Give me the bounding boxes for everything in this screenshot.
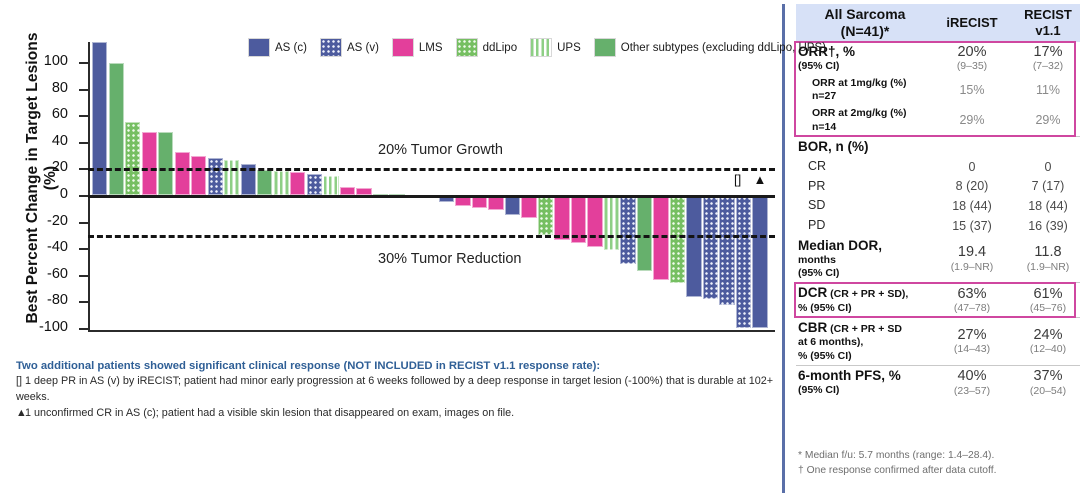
cell-irecist: 40%(23–57) — [934, 365, 1010, 399]
row-label: Median DOR, — [798, 238, 932, 254]
cell-value: 24% — [1012, 327, 1080, 344]
legend-label: UPS — [557, 42, 581, 54]
row-label-qualifier: (CR + PR + SD), — [827, 288, 908, 300]
row-label-cell: SD — [796, 196, 934, 216]
bar — [125, 122, 140, 195]
cell-irecist — [934, 136, 1010, 157]
cell-value: 29% — [936, 113, 1008, 127]
y-tick-label: 80 — [20, 80, 68, 96]
bar — [92, 42, 107, 195]
legend-swatch — [392, 38, 414, 57]
bar — [736, 195, 751, 328]
row-label-cell: Median DOR,months(95% CI) — [796, 236, 934, 283]
cell-value: 20% — [936, 44, 1008, 61]
bar — [274, 171, 289, 195]
zero-baseline — [88, 195, 775, 198]
summary-table-wrap: All Sarcoma (N=41)* iRECIST RECIST v1.1 … — [796, 4, 1074, 399]
bar — [290, 172, 305, 195]
cell-recist: 16 (39) — [1010, 216, 1080, 236]
table-footnotes: * Median f/u: 5.7 months (range: 1.4–28.… — [798, 449, 1068, 479]
bar — [538, 195, 553, 235]
row-sublabel: months — [798, 254, 932, 267]
cell-value: 11% — [1012, 83, 1080, 97]
table-row: PR8 (20)7 (17) — [796, 177, 1080, 197]
y-tick-label: 0 — [20, 186, 68, 202]
cell-confidence-interval: (1.9–NR) — [1012, 261, 1080, 274]
cell-recist: 18 (44) — [1010, 196, 1080, 216]
cell-irecist: 15% — [934, 75, 1010, 105]
y-axis-labels: 100806040200-20-40-60-80-100 — [20, 42, 68, 332]
row-label-cell: ORR at 1mg/kg (%)n=27 — [796, 75, 934, 105]
row-label-qualifier: (CR + PR + SD — [827, 323, 902, 335]
cell-confidence-interval: (12–40) — [1012, 343, 1080, 356]
bar — [191, 156, 206, 195]
cell-recist: 17%(7–32) — [1010, 42, 1080, 76]
y-tick-label: 20 — [20, 159, 68, 175]
cell-confidence-interval: (23–57) — [936, 385, 1008, 398]
row-label: BOR, n (%) — [798, 139, 932, 155]
y-tick — [79, 328, 88, 330]
bar — [142, 132, 157, 195]
legend-item: UPS — [530, 38, 581, 57]
footnote-line-2: ▲1 unconfirmed CR in AS (c); patient had… — [16, 406, 776, 422]
table-row: CBR (CR + PR + SDat 6 months),% (95% CI)… — [796, 317, 1080, 365]
legend-item: AS (v) — [320, 38, 379, 57]
cell-value: 19.4 — [936, 244, 1008, 261]
y-tick — [79, 195, 88, 197]
legend-item: LMS — [392, 38, 443, 57]
legend-swatch — [320, 38, 342, 57]
row-sublabel: % (95% CI) — [798, 350, 932, 363]
bar — [686, 195, 701, 297]
chart-legend: AS (c)AS (v)LMSddLipoUPSOther subtypes (… — [248, 38, 832, 57]
row-label-cell: BOR, n (%) — [796, 136, 934, 157]
cell-irecist: 8 (20) — [934, 177, 1010, 197]
y-tick — [79, 89, 88, 91]
summary-table-panel: All Sarcoma (N=41)* iRECIST RECIST v1.1 … — [780, 0, 1080, 497]
y-tick-label: -80 — [20, 292, 68, 308]
bar — [109, 63, 124, 195]
cell-confidence-interval: (9–35) — [936, 60, 1008, 73]
row-sublabel: (95% CI) — [798, 60, 932, 73]
row-label-cell: ORR at 2mg/kg (%)n=14 — [796, 105, 934, 136]
footnote-line-2-text: 1 unconfirmed CR in AS (c); patient had … — [25, 407, 514, 419]
y-tick — [79, 301, 88, 303]
bar — [208, 158, 223, 195]
header-irecist: iRECIST — [936, 15, 1008, 31]
row-sublabel: (95% CI) — [798, 267, 932, 280]
bar — [604, 195, 619, 250]
cell-irecist: 29% — [934, 105, 1010, 136]
bar — [323, 176, 338, 195]
footnote-heading: Two additional patients showed significa… — [16, 358, 776, 374]
cell-irecist: 15 (37) — [934, 216, 1010, 236]
header-recist-line1: RECIST — [1012, 7, 1080, 23]
legend-item: Other subtypes (excluding ddLipo, UPS) — [594, 38, 826, 57]
cell-recist: 0 — [1010, 157, 1080, 177]
row-label-cell: PR — [796, 177, 934, 197]
table-row: DCR (CR + PR + SD),% (95% CI)63%(47–78)6… — [796, 283, 1080, 318]
cell-value: 18 (44) — [1012, 199, 1080, 213]
cell-value: 37% — [1012, 368, 1080, 385]
legend-swatch — [594, 38, 616, 57]
header-cell-population: All Sarcoma (N=41)* — [796, 4, 934, 42]
marker-triangle-icon: ▲ — [753, 173, 766, 186]
header-cell-irecist: iRECIST — [934, 4, 1010, 42]
row-label-cell: DCR (CR + PR + SD),% (95% CI) — [796, 283, 934, 318]
y-tick-label: -100 — [20, 319, 68, 335]
cell-irecist: 20%(9–35) — [934, 42, 1010, 76]
table-row: 6-month PFS, %(95% CI)40%(23–57)37%(20–5… — [796, 365, 1080, 399]
bar — [554, 195, 569, 240]
cell-value: 63% — [936, 286, 1008, 303]
legend-item: AS (c) — [248, 38, 307, 57]
cell-recist: 29% — [1010, 105, 1080, 136]
cell-value: 27% — [936, 327, 1008, 344]
cell-recist: 61%(45–76) — [1010, 283, 1080, 318]
y-tick-label: -60 — [20, 266, 68, 282]
cell-irecist: 63%(47–78) — [934, 283, 1010, 318]
chart-area: Best Percent Change in Target Lesions (%… — [0, 0, 780, 352]
legend-swatch — [530, 38, 552, 57]
legend-label: AS (c) — [275, 42, 307, 54]
cell-value: 0 — [1012, 160, 1080, 174]
bar — [637, 195, 652, 271]
row-sublabel: (95% CI) — [798, 384, 932, 397]
table-header-row: All Sarcoma (N=41)* iRECIST RECIST v1.1 — [796, 4, 1080, 42]
row-sublabel: n=14 — [812, 121, 932, 134]
cell-value: 0 — [936, 160, 1008, 174]
header-cell-recist: RECIST v1.1 — [1010, 4, 1080, 42]
plot-region: 20% Tumor Growth30% Tumor Reduction []▲ — [88, 42, 775, 332]
bar — [620, 195, 635, 264]
y-tick — [79, 222, 88, 224]
cell-confidence-interval: (1.9–NR) — [936, 261, 1008, 274]
footnote-triangle-symbol: ▲ — [16, 406, 25, 422]
cell-value: 8 (20) — [936, 179, 1008, 193]
table-head: All Sarcoma (N=41)* iRECIST RECIST v1.1 — [796, 4, 1080, 42]
bar — [521, 195, 536, 218]
footnote-bracket-symbol: [] — [16, 374, 25, 390]
row-label: SD — [808, 198, 932, 214]
row-label-cell: CBR (CR + PR + SDat 6 months),% (95% CI) — [796, 317, 934, 365]
row-label-cell: CR — [796, 157, 934, 177]
cell-confidence-interval: (47–78) — [936, 302, 1008, 315]
x-axis-line — [88, 330, 775, 332]
cell-value: 18 (44) — [936, 199, 1008, 213]
y-tick — [79, 62, 88, 64]
row-label: 6-month PFS, % — [798, 368, 932, 384]
cell-confidence-interval: (14–43) — [936, 343, 1008, 356]
reference-line-label: 20% Tumor Growth — [378, 142, 503, 158]
table-row: ORR at 2mg/kg (%)n=1429%29% — [796, 105, 1080, 136]
table-row: ORR†, %(95% CI)20%(9–35)17%(7–32) — [796, 42, 1080, 76]
reference-line — [88, 235, 775, 238]
efficacy-summary-table: All Sarcoma (N=41)* iRECIST RECIST v1.1 … — [796, 4, 1080, 399]
table-row: Median DOR,months(95% CI)19.4(1.9–NR)11.… — [796, 236, 1080, 283]
cell-recist: 11.8(1.9–NR) — [1010, 236, 1080, 283]
bar — [340, 187, 355, 195]
waterfall-chart-panel: Best Percent Change in Target Lesions (%… — [0, 0, 780, 497]
cell-value: 17% — [1012, 44, 1080, 61]
bar — [703, 195, 718, 299]
row-label-cell: 6-month PFS, %(95% CI) — [796, 365, 934, 399]
cell-recist: 37%(20–54) — [1010, 365, 1080, 399]
reference-line-label: 30% Tumor Reduction — [378, 251, 521, 267]
reference-line — [88, 168, 775, 171]
cell-value: 7 (17) — [1012, 179, 1080, 193]
cell-confidence-interval: (7–32) — [1012, 60, 1080, 73]
row-sublabel: % (95% CI) — [798, 302, 932, 315]
cell-recist: 24%(12–40) — [1010, 317, 1080, 365]
legend-label: Other subtypes (excluding ddLipo, UPS) — [621, 42, 826, 54]
row-label: DCR (CR + PR + SD), — [798, 285, 932, 301]
y-tick — [79, 168, 88, 170]
row-label: PR — [808, 179, 932, 195]
table-body: ORR†, %(95% CI)20%(9–35)17%(7–32)ORR at … — [796, 42, 1080, 400]
row-label: PD — [808, 218, 932, 234]
bar — [307, 174, 322, 195]
bar — [175, 152, 190, 195]
footnote-line-1: []1 deep PR in AS (v) by iRECIST; patien… — [16, 374, 776, 405]
y-tick-label: -40 — [20, 239, 68, 255]
bar — [587, 195, 602, 247]
y-tick-label: 60 — [20, 106, 68, 122]
cell-irecist: 0 — [934, 157, 1010, 177]
cell-value: 61% — [1012, 286, 1080, 303]
table-row: SD18 (44)18 (44) — [796, 196, 1080, 216]
header-population-line1: All Sarcoma — [798, 6, 932, 23]
bar — [670, 195, 685, 283]
table-row: ORR at 1mg/kg (%)n=2715%11% — [796, 75, 1080, 105]
table-footnote-star: * Median f/u: 5.7 months (range: 1.4–28.… — [798, 449, 1068, 464]
row-label: ORR at 2mg/kg (%) — [812, 107, 932, 120]
chart-footnotes: Two additional patients showed significa… — [16, 358, 776, 421]
table-row: PD15 (37)16 (39) — [796, 216, 1080, 236]
cell-confidence-interval: (45–76) — [1012, 302, 1080, 315]
bar — [719, 195, 734, 305]
footnote-line-1-text: 1 deep PR in AS (v) by iRECIST; patient … — [16, 375, 773, 403]
legend-swatch — [456, 38, 478, 57]
y-tick — [79, 248, 88, 250]
table-footnote-dagger: † One response confirmed after data cuto… — [798, 464, 1068, 479]
table-row: CR00 — [796, 157, 1080, 177]
y-tick-label: 100 — [20, 53, 68, 69]
legend-label: AS (v) — [347, 42, 379, 54]
legend-label: ddLipo — [483, 42, 518, 54]
cell-value: 40% — [936, 368, 1008, 385]
bar — [356, 188, 371, 195]
legend-item: ddLipo — [456, 38, 518, 57]
y-tick — [79, 142, 88, 144]
row-label: CR — [808, 159, 932, 175]
bar — [158, 132, 173, 195]
bar — [752, 195, 767, 328]
cell-value: 15% — [936, 83, 1008, 97]
row-label: CBR (CR + PR + SD — [798, 320, 932, 336]
marker-bracket-icon: [] — [734, 173, 741, 186]
y-tick — [79, 115, 88, 117]
cell-recist: 11% — [1010, 75, 1080, 105]
panel-divider — [782, 4, 785, 493]
header-recist-line2: v1.1 — [1012, 23, 1080, 39]
cell-recist — [1010, 136, 1080, 157]
bar — [505, 195, 520, 215]
cell-confidence-interval: (20–54) — [1012, 385, 1080, 398]
y-tick-label: -20 — [20, 213, 68, 229]
table-row: BOR, n (%) — [796, 136, 1080, 157]
y-axis-line — [88, 42, 90, 332]
cell-irecist: 18 (44) — [934, 196, 1010, 216]
cell-irecist: 27%(14–43) — [934, 317, 1010, 365]
cell-value: 11.8 — [1012, 244, 1080, 261]
bar — [224, 160, 239, 195]
cell-recist: 7 (17) — [1010, 177, 1080, 197]
row-label-cell: PD — [796, 216, 934, 236]
row-label: ORR at 1mg/kg (%) — [812, 77, 932, 90]
row-sublabel: n=27 — [812, 90, 932, 103]
y-tick — [79, 275, 88, 277]
legend-swatch — [248, 38, 270, 57]
cell-value: 15 (37) — [936, 219, 1008, 233]
cell-value: 29% — [1012, 113, 1080, 127]
legend-label: LMS — [419, 42, 443, 54]
row-sublabel: at 6 months), — [798, 336, 932, 349]
y-tick-label: 40 — [20, 133, 68, 149]
cell-value: 16 (39) — [1012, 219, 1080, 233]
cell-irecist: 19.4(1.9–NR) — [934, 236, 1010, 283]
bar — [257, 170, 272, 195]
